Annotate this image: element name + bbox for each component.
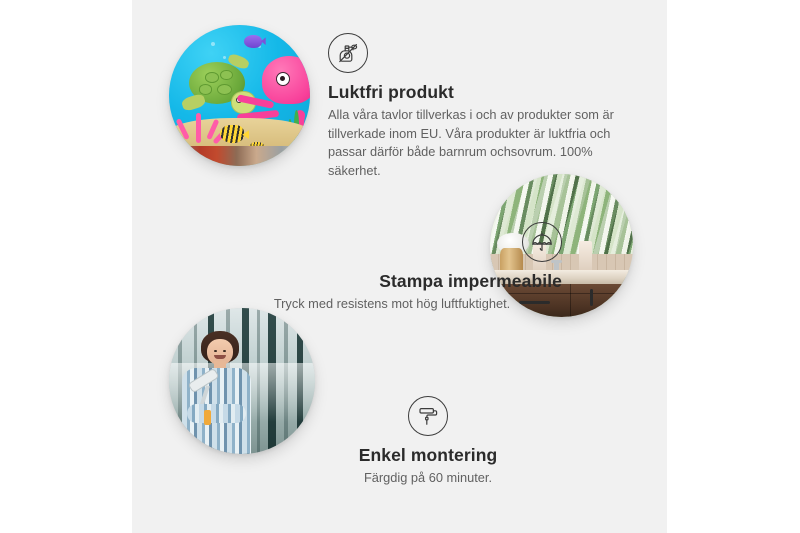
- forest-scene: [169, 308, 315, 454]
- fish-purple: [244, 35, 262, 48]
- feature-block-odourless: Luktfri produkt Alla våra tavlor tillver…: [328, 33, 628, 180]
- octopus-eye: [276, 72, 290, 86]
- product-feature-infographic: Luktfri produkt Alla våra tavlor tillver…: [0, 0, 800, 533]
- feature-block-waterproof: Stampa impermeabile Tryck med resistens …: [222, 222, 562, 314]
- sea-bottom-strip: [169, 146, 310, 166]
- no-odour-perfume-icon: [328, 33, 368, 73]
- woman-crossed-arms: [187, 404, 247, 423]
- feature-body: Alla våra tavlor tillverkas i och av pro…: [328, 106, 628, 180]
- paint-roller-grip: [204, 410, 211, 425]
- image-thumbnail-ocean[interactable]: [169, 25, 310, 166]
- fish-yellow: [220, 125, 244, 143]
- feature-block-assembly: Enkel montering Färgdig på 60 minuter.: [328, 396, 528, 488]
- feature-title: Stampa impermeabile: [222, 271, 562, 291]
- feature-body: Färgdig på 60 minuter.: [328, 469, 528, 488]
- towel: [579, 241, 592, 272]
- bubble-icon: [223, 56, 226, 59]
- feature-title: Luktfri produkt: [328, 82, 628, 102]
- image-thumbnail-forest[interactable]: [169, 308, 315, 454]
- paint-roller-icon: [408, 396, 448, 436]
- feature-body: Tryck med resistens mot hög luftfuktighe…: [222, 295, 562, 314]
- ocean-scene: [169, 25, 310, 166]
- umbrella-icon: [522, 222, 562, 262]
- coral: [176, 101, 218, 143]
- cabinet-handle: [590, 289, 593, 306]
- content-panel: Luktfri produkt Alla våra tavlor tillver…: [132, 0, 667, 533]
- feature-title: Enkel montering: [328, 445, 528, 465]
